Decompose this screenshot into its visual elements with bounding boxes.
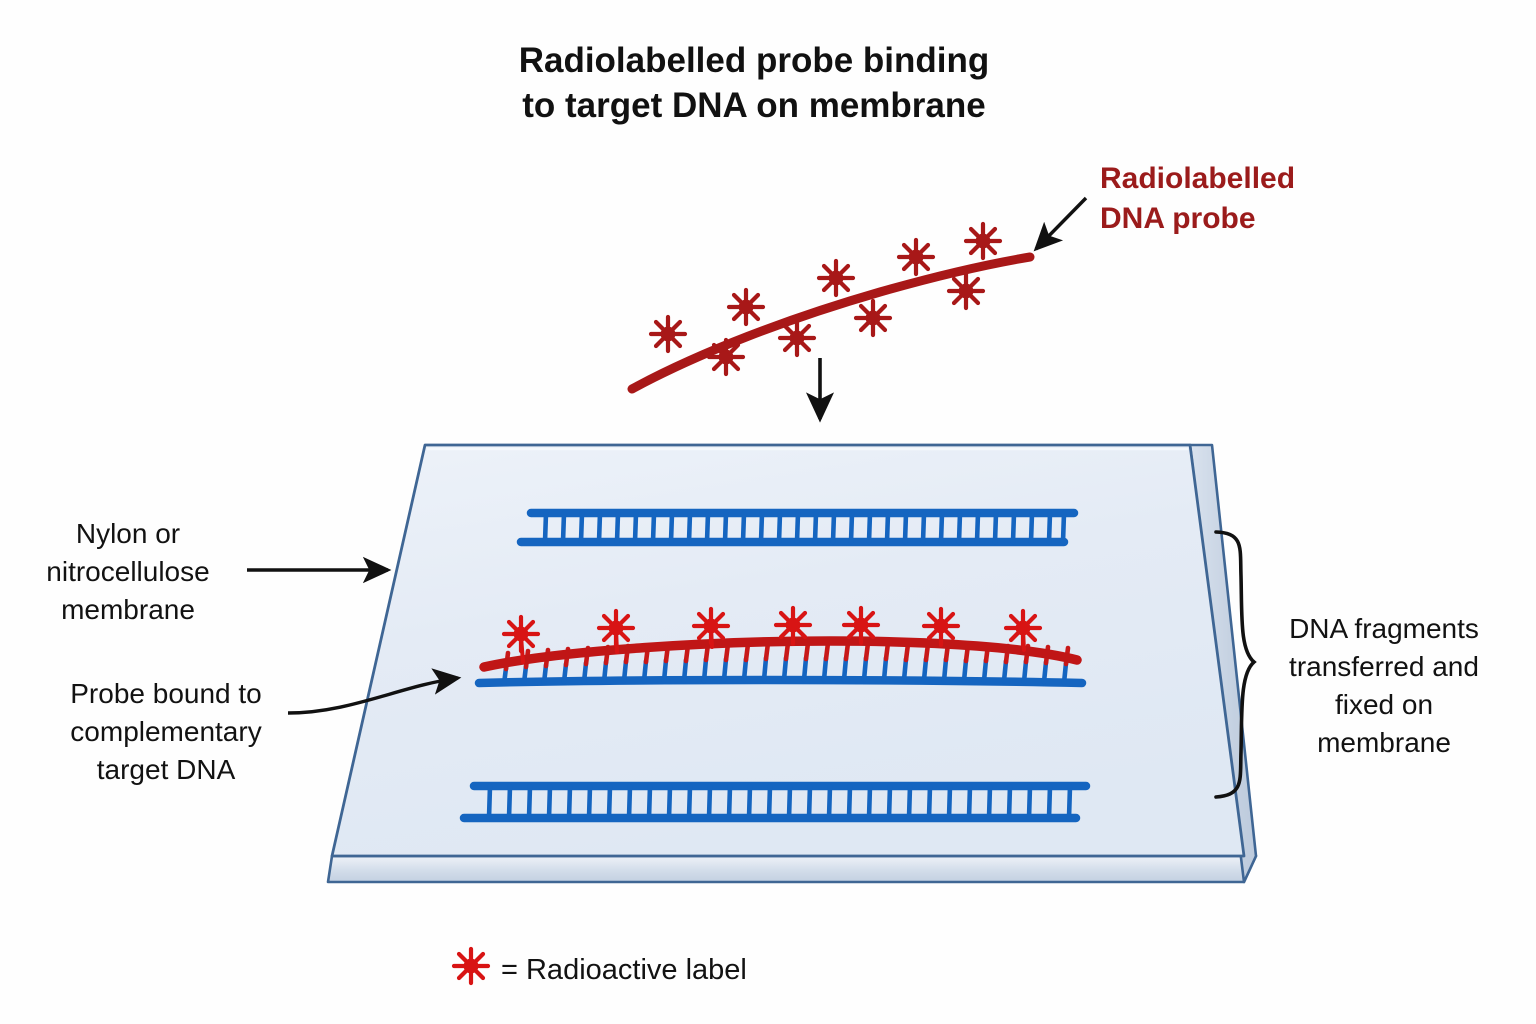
legend-label: = Radioactive label: [501, 954, 747, 986]
bound-probe-label-line-2: complementary: [70, 716, 261, 747]
fragments-label-line-4: membrane: [1317, 727, 1451, 758]
bound-probe-label: Probe bound to complementary target DNA: [70, 678, 262, 785]
probe-label-line-2: DNA probe: [1100, 202, 1256, 235]
fragments-label-line-2: transferred and: [1289, 651, 1479, 682]
arrow-to-probe-label-icon: [1036, 198, 1086, 249]
dna-fragments-label: DNA fragments transferred and fixed on m…: [1289, 613, 1479, 758]
probe-label-line-1: Radiolabelled: [1100, 162, 1295, 195]
bound-probe-label-line-3: target DNA: [97, 754, 236, 785]
diagram-canvas: Radiolabelled probe binding to target DN…: [0, 0, 1536, 1024]
membrane-front-edge: [328, 856, 1256, 882]
radioactive-star-icon: [454, 949, 488, 983]
legend: = Radioactive label: [454, 949, 747, 986]
page-title: Radiolabelled probe binding to target DN…: [519, 41, 990, 125]
membrane-label: Nylon or nitrocellulose membrane: [46, 518, 209, 625]
title-line-2: to target DNA on membrane: [522, 86, 985, 125]
southern-blot-diagram: Radiolabelled probe binding to target DN…: [0, 0, 1536, 1024]
membrane-label-line-3: membrane: [61, 594, 195, 625]
membrane-label-line-1: Nylon or: [76, 518, 180, 549]
fragments-label-line-3: fixed on: [1335, 689, 1433, 720]
radiolabelled-probe-label: Radiolabelled DNA probe: [1100, 162, 1295, 235]
target-dna-strand: [479, 680, 1082, 683]
title-line-1: Radiolabelled probe binding: [519, 41, 990, 80]
membrane-label-line-2: nitrocellulose: [46, 556, 209, 587]
bound-probe-label-line-1: Probe bound to: [70, 678, 262, 709]
fragments-label-line-1: DNA fragments: [1289, 613, 1479, 644]
free-radiolabelled-probe: [632, 224, 1030, 389]
